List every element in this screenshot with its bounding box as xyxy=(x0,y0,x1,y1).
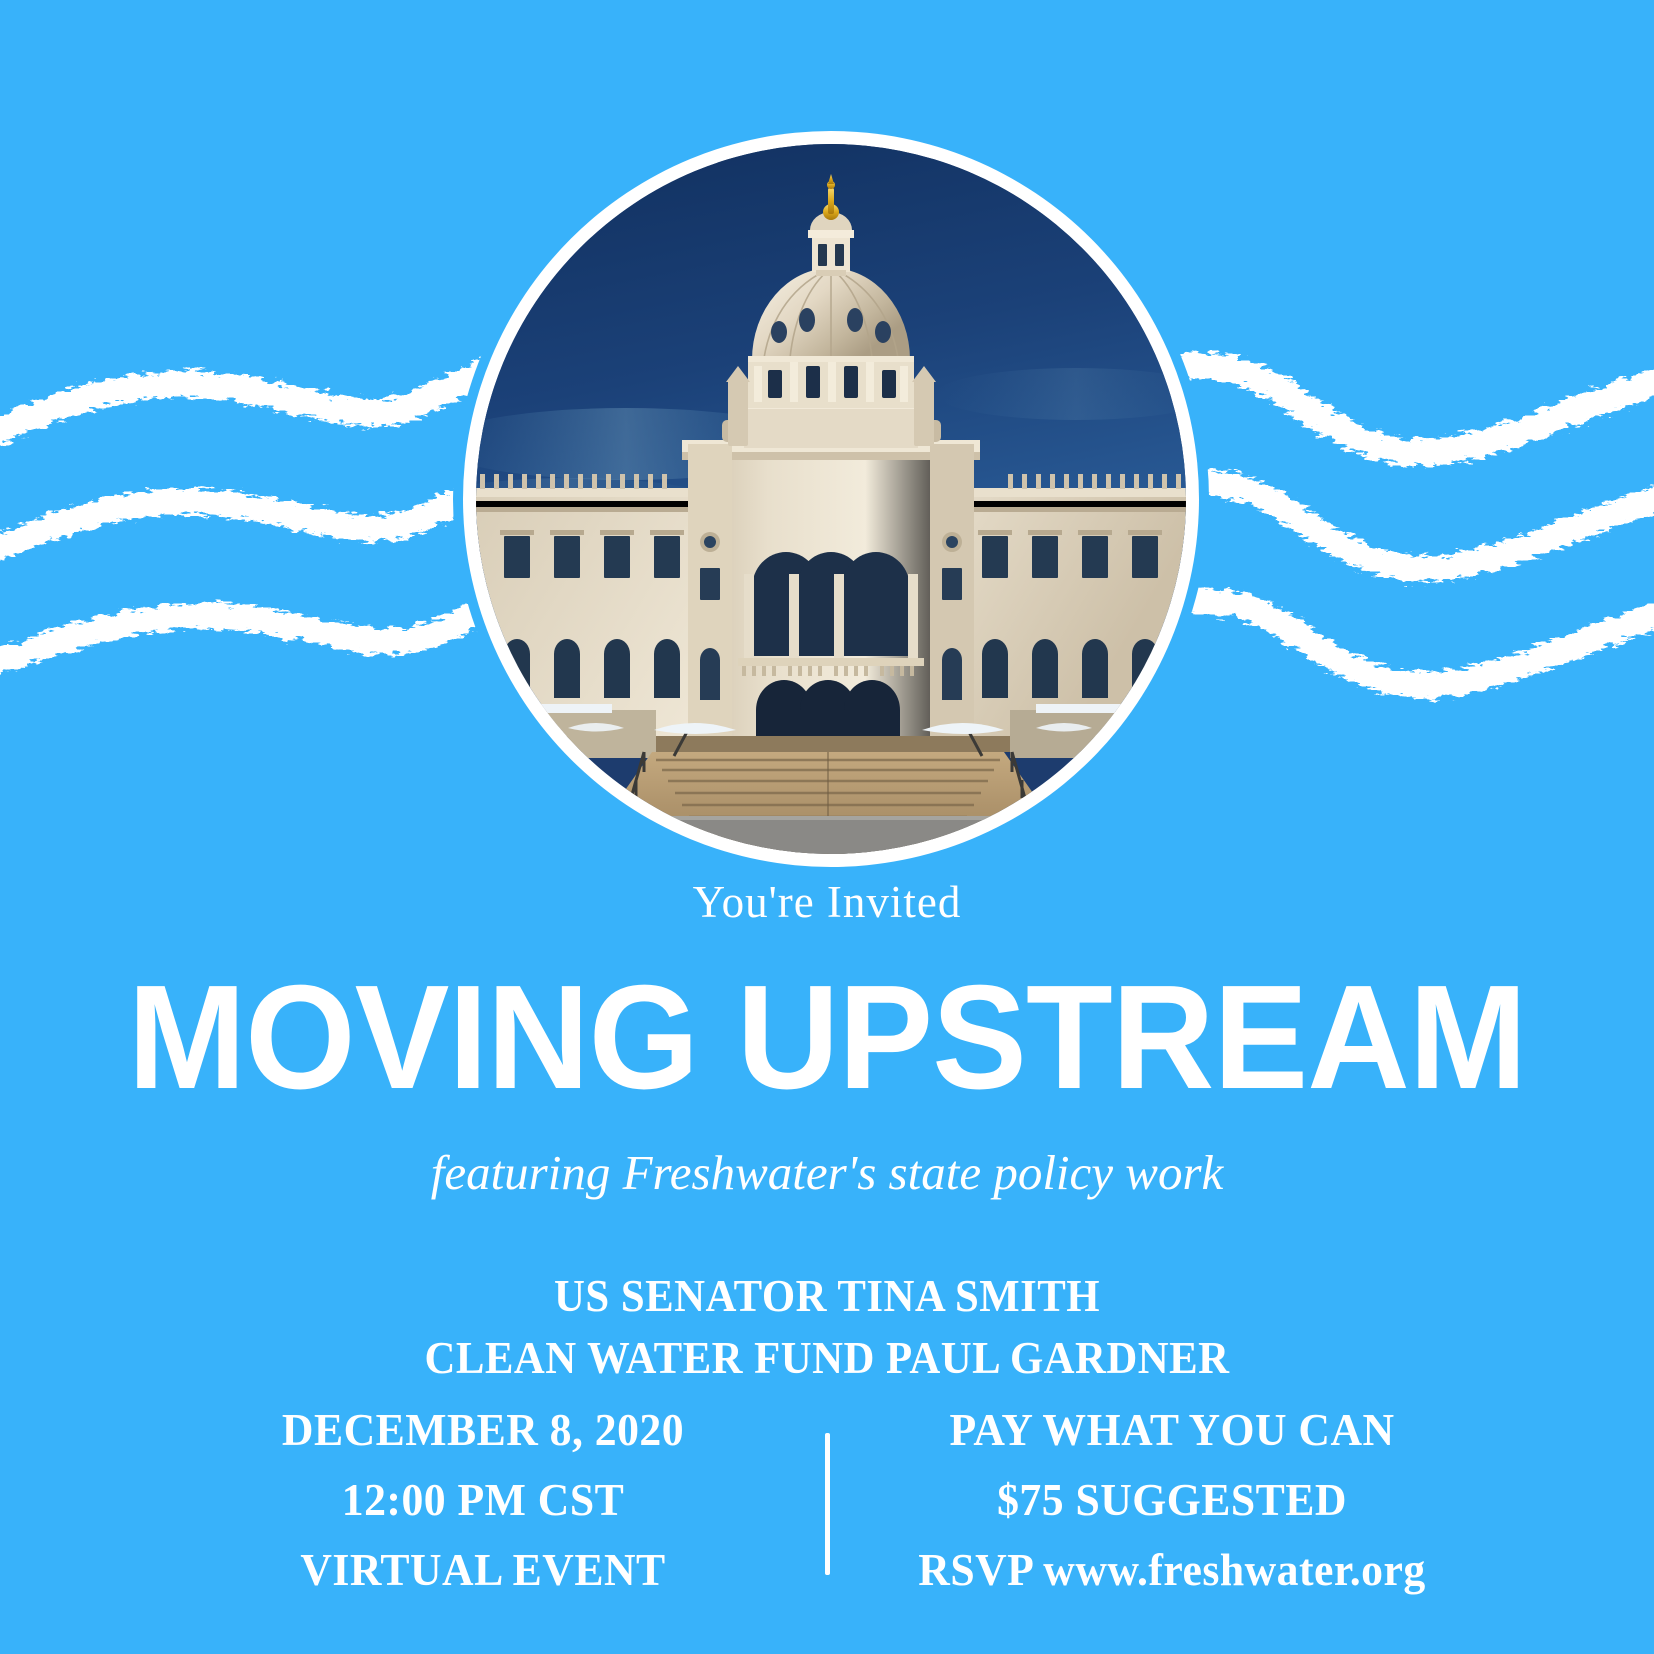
speaker-list: US SENATOR TINA SMITH CLEAN WATER FUND P… xyxy=(0,1197,1654,1388)
event-date: DECEMBER 8, 2020 xyxy=(179,1395,787,1465)
event-invitation-poster: You're Invited MOVING UPSTREAM featuring… xyxy=(0,0,1654,1654)
event-details-right-column: PAY WHAT YOU CAN $75 SUGGESTED RSVP www.… xyxy=(852,1395,1492,1605)
speaker-line-2: CLEAN WATER FUND PAUL GARDNER xyxy=(58,1327,1596,1389)
speaker-line-1: US SENATOR TINA SMITH xyxy=(58,1265,1596,1327)
rsvp-link[interactable]: RSVP www.freshwater.org xyxy=(868,1535,1476,1605)
page-title: MOVING UPSTREAM xyxy=(33,925,1621,1114)
event-details: DECEMBER 8, 2020 12:00 PM CST VIRTUAL EV… xyxy=(0,1395,1654,1605)
capitol-photo xyxy=(476,144,1186,854)
event-time: 12:00 PM CST xyxy=(179,1465,787,1535)
event-details-left-column: DECEMBER 8, 2020 12:00 PM CST VIRTUAL EV… xyxy=(163,1395,803,1605)
details-vertical-divider xyxy=(825,1433,830,1575)
capitol-photo-ring xyxy=(463,131,1199,867)
suggested-price: $75 SUGGESTED xyxy=(868,1465,1476,1535)
tagline-text: featuring Freshwater's state policy work xyxy=(0,1114,1654,1197)
pricing-policy: PAY WHAT YOU CAN xyxy=(868,1395,1476,1465)
invitation-text-block: You're Invited MOVING UPSTREAM featuring… xyxy=(0,860,1654,1388)
eyebrow-text: You're Invited xyxy=(0,860,1654,925)
event-format: VIRTUAL EVENT xyxy=(179,1535,787,1605)
